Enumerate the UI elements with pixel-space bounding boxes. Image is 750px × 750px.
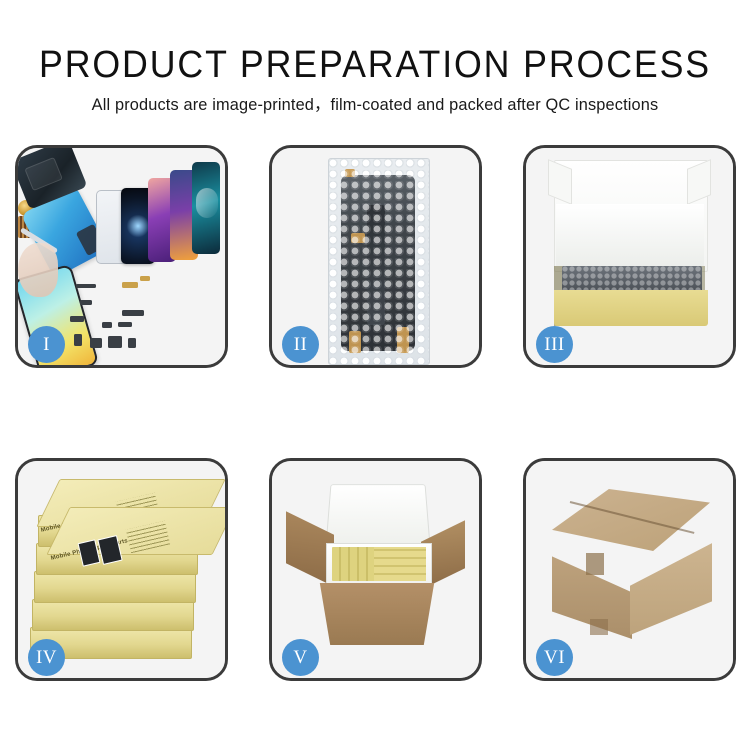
- step-badge-6: VI: [536, 639, 573, 676]
- small-part-image: [128, 338, 136, 348]
- process-step-grid: I II: [15, 145, 735, 683]
- page-subtitle: All products are image-printed，film-coat…: [4, 86, 747, 115]
- small-part-image: [90, 338, 102, 348]
- small-part-image: [118, 322, 132, 327]
- small-part-image: [108, 336, 122, 348]
- tape-image: [345, 169, 355, 177]
- stacked-box-image: [32, 599, 194, 631]
- small-part-image: [70, 316, 84, 322]
- foam-lid-image: [325, 484, 431, 549]
- small-part-image: [122, 310, 144, 316]
- step-badge-3: III: [536, 326, 573, 363]
- product-preparation-process-page: PRODUCT PREPARATION PROCESS All products…: [0, 0, 750, 750]
- wrapped-screen-part-image: [341, 175, 415, 351]
- process-step-panel-6: VI: [523, 458, 736, 681]
- bubble-wrap-bag-image: [328, 158, 430, 365]
- step-badge-5: V: [282, 639, 319, 676]
- anti-static-bubble-wrap-image: [562, 266, 702, 292]
- process-step-panel-1: I: [15, 145, 228, 368]
- teal-phone-image: [192, 162, 220, 254]
- carton-tape-image: [586, 553, 604, 575]
- small-part-image: [76, 284, 96, 288]
- small-part-image: [140, 276, 150, 281]
- carton-top-image: [552, 489, 710, 551]
- step-badge-4: IV: [28, 639, 65, 676]
- yellow-boxes-inside-image: [374, 547, 426, 581]
- page-header: PRODUCT PREPARATION PROCESS All products…: [0, 0, 750, 115]
- yellow-box-front-image: [554, 290, 708, 326]
- carton-tape-image: [590, 619, 608, 635]
- tape-image: [349, 331, 361, 353]
- page-title: PRODUCT PREPARATION PROCESS: [23, 0, 728, 86]
- small-part-image: [74, 334, 82, 346]
- tape-image: [397, 327, 409, 353]
- small-part-image: [80, 300, 92, 305]
- process-step-panel-3: III: [523, 145, 736, 368]
- process-step-panel-4: Mobile Phone Spare Parts Mobile Phone Sp…: [15, 458, 228, 681]
- step-badge-2: II: [282, 326, 319, 363]
- step-badge-1: I: [28, 326, 65, 363]
- process-step-panel-2: II: [269, 145, 482, 368]
- tape-image: [351, 233, 365, 243]
- process-step-panel-5: V: [269, 458, 482, 681]
- white-foam-liner-image: [556, 204, 704, 266]
- small-part-image: [102, 322, 112, 328]
- hand-image: [18, 243, 58, 297]
- small-part-image: [122, 282, 138, 288]
- stacked-box-image: [34, 571, 196, 603]
- carton-front-image: [312, 583, 442, 645]
